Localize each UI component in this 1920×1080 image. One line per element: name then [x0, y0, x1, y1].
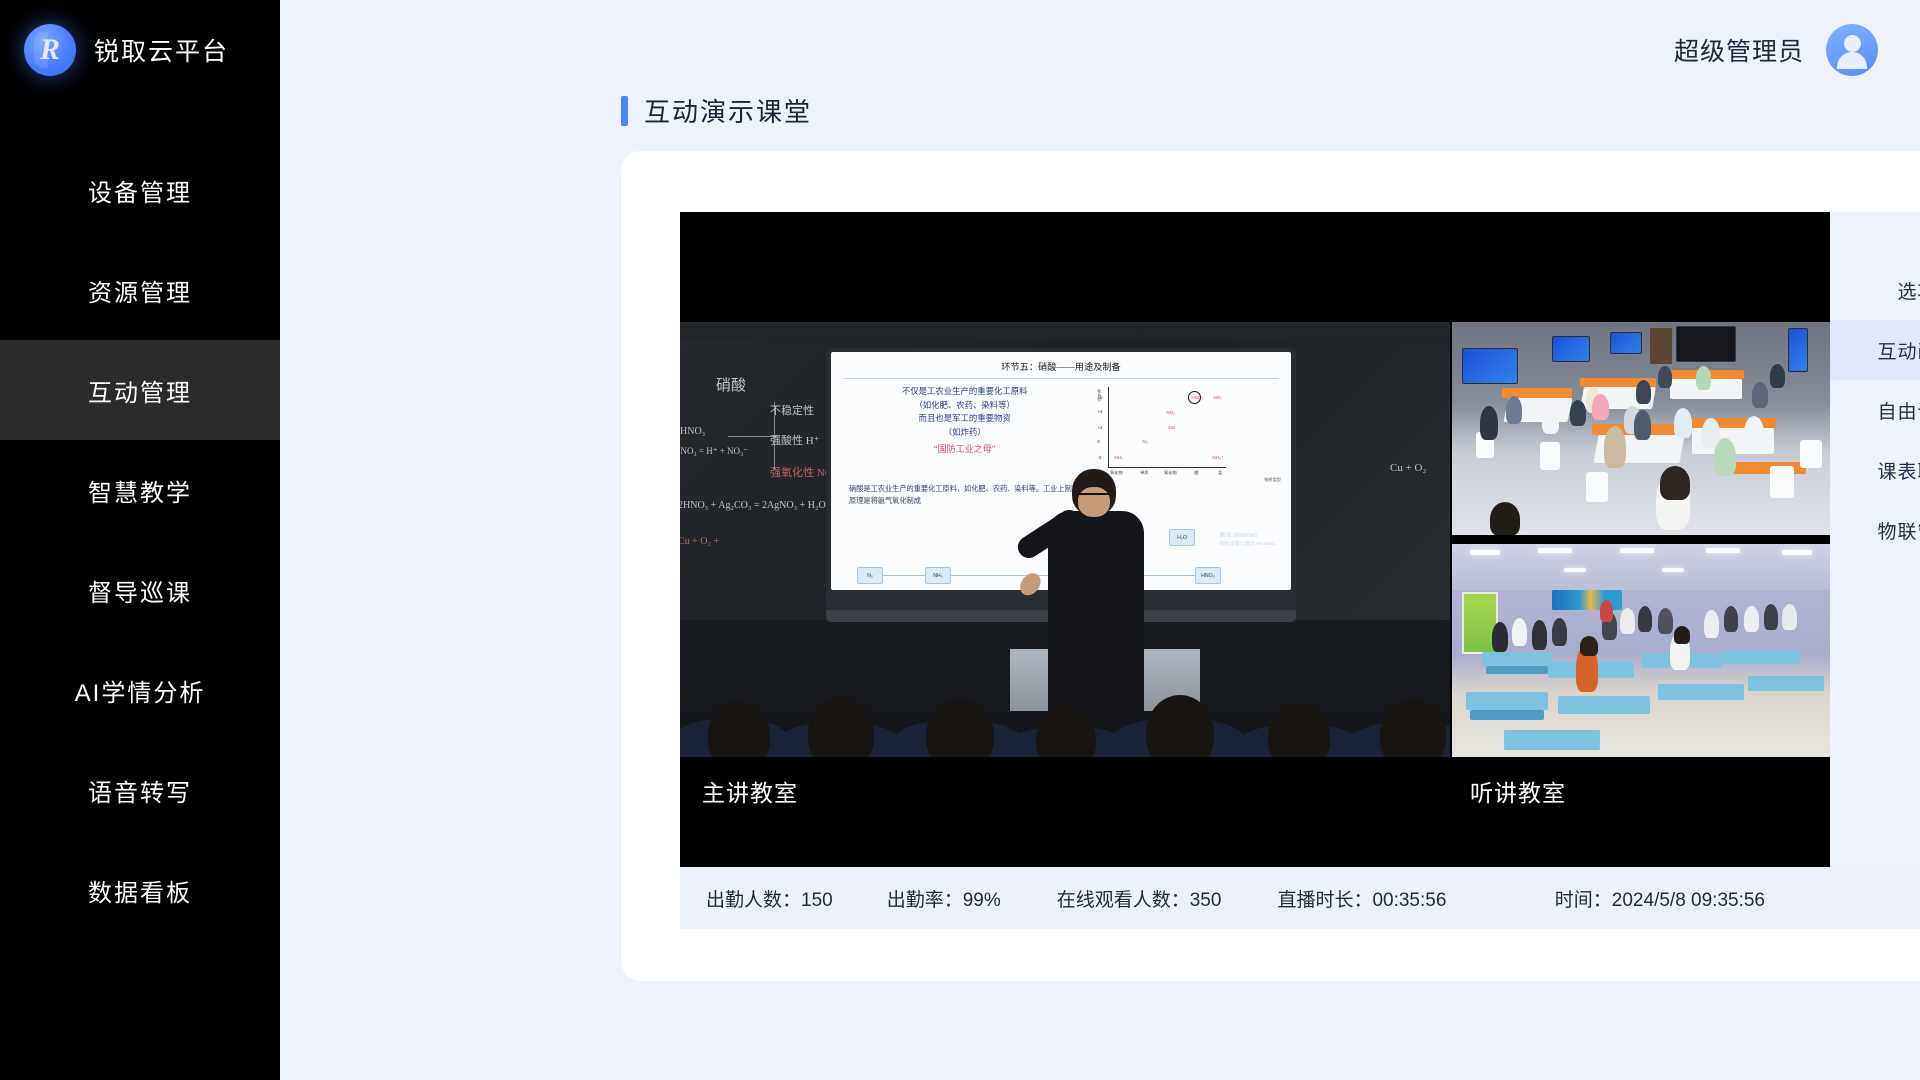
thumb1-person	[1752, 382, 1768, 408]
page-title-row: 互动演示课堂	[280, 92, 1920, 129]
thumb1-person	[1714, 438, 1736, 476]
thumb2-light	[1564, 568, 1586, 572]
tab-label: 互动画面	[1877, 337, 1920, 364]
student-head	[808, 697, 874, 757]
chalk-item-1: 不稳定性	[770, 402, 814, 418]
graph-y-tick-3: 0	[1097, 439, 1099, 444]
thumb2-desk	[1748, 676, 1824, 691]
thumb1-person	[1592, 394, 1609, 420]
flow-node-h2o: H₂O	[1169, 529, 1195, 546]
graph-x-tick-4: 盐	[1212, 470, 1228, 476]
flow-node-hno3: HNO₃	[1195, 567, 1221, 584]
tab-interactive-view[interactable]: 互动画面	[1830, 320, 1920, 380]
thumb2-desk	[1558, 696, 1650, 714]
sidebar-item-voice-transcription[interactable]: 语音转写	[0, 740, 280, 840]
sidebar-item-label: 语音转写	[88, 773, 192, 808]
tab-label: 选项	[1897, 277, 1920, 304]
thumb2-desk	[1504, 730, 1600, 750]
slide-graph: 化合价 +5 +4 +2 0 -3	[1094, 385, 1281, 477]
tab-schedule-linkage[interactable]: 课表联动	[1830, 440, 1920, 500]
student-head	[1036, 707, 1096, 757]
thumb1-display	[1462, 348, 1518, 384]
thumb2-person	[1532, 620, 1547, 650]
main-feed-label: 主讲教室	[702, 774, 798, 808]
graph-point-hno3: HNO₃	[1191, 395, 1203, 400]
thumb1-chair	[1770, 466, 1794, 498]
stat-attendance-rate: 出勤率：99%	[887, 885, 1001, 912]
topbar: 超级管理员	[280, 0, 1920, 100]
student-head	[1268, 703, 1330, 757]
side-tab-panel: 选项 互动画面 自由讨论 课表联动 物联管控	[1830, 212, 1920, 867]
sidebar-item-label: 数据看板	[88, 873, 192, 908]
thumb1-person	[1660, 466, 1690, 500]
thumb1-person	[1674, 408, 1692, 438]
tab-iot-control[interactable]: 物联管控	[1830, 500, 1920, 560]
slide-text-block: 不仅是工农业生产的重要化工原料 （如化肥、农药、染料等） 而且也是军工的重要物资…	[841, 385, 1088, 477]
thumb1-person	[1570, 400, 1586, 426]
sidebar-item-label: 互动管理	[88, 373, 192, 408]
stat-attendance-count: 出勤人数：150	[706, 885, 833, 912]
thumb1-person	[1506, 396, 1522, 424]
flow-node-nh3: NH₃	[925, 567, 951, 584]
thumb2-person	[1580, 636, 1598, 656]
thumb2-desk	[1482, 652, 1552, 666]
sidebar-item-interaction-management[interactable]: 互动管理	[0, 340, 280, 440]
brand-name: 锐取云平台	[94, 32, 229, 68]
graph-x-label: 物质类型	[1264, 477, 1281, 483]
thumb2-person	[1782, 604, 1797, 630]
thumb2-person	[1512, 618, 1527, 646]
thumb2-desk	[1486, 666, 1548, 674]
thumb1-person	[1604, 426, 1626, 468]
graph-y-tick-4: -3	[1097, 455, 1101, 460]
thumb1-person	[1634, 410, 1651, 440]
thumb2-person	[1620, 608, 1635, 634]
user-name: 超级管理员	[1674, 32, 1804, 68]
thumb1-person	[1744, 416, 1764, 450]
sub-feed-label: 听讲教室	[1470, 774, 1566, 808]
graph-point-nh4: NH₄⁺	[1212, 455, 1223, 461]
chalk-formula-4: Cu + O₂ +	[680, 536, 719, 547]
windows-watermark: 激活 Windows 转到“设置”以激活 Windows。	[1219, 532, 1279, 548]
app-root: R 锐取云平台 设备管理 资源管理 互动管理 智慧教学 督导巡课 AI学情分析 …	[0, 0, 1920, 1080]
content-card: 硝酸 不稳定性 强酸性 H⁺ 强氧化性 NO₃⁻(H⁺) HNO₃ HNO₃ =…	[621, 151, 1920, 981]
main-area: 超级管理员 互动演示课堂 硝酸 不稳定性	[280, 0, 1920, 1080]
stat-live-duration: 直播时长：00:35:56	[1277, 885, 1446, 912]
graph-y-tick-2: +2	[1097, 425, 1102, 430]
flow-node-n2: N₂	[857, 567, 883, 584]
sidebar: R 锐取云平台 设备管理 资源管理 互动管理 智慧教学 督导巡课 AI学情分析 …	[0, 0, 280, 1080]
thumb1-display	[1788, 328, 1808, 372]
student-head	[1146, 695, 1214, 757]
thumb2-person	[1744, 606, 1759, 632]
thumb1-person	[1636, 380, 1651, 404]
thumb1-display	[1610, 332, 1642, 354]
thumb1-person	[1542, 406, 1559, 434]
thumb2-person	[1600, 600, 1613, 622]
sidebar-item-data-dashboard[interactable]: 数据看板	[0, 840, 280, 940]
classroom-scene: 硝酸 不稳定性 强酸性 H⁺ 强氧化性 NO₃⁻(H⁺) HNO₃ HNO₃ =…	[680, 322, 1450, 757]
thumb1-chair	[1540, 442, 1560, 470]
sidebar-item-supervision[interactable]: 督导巡课	[0, 540, 280, 640]
slide-line-1: 不仅是工农业生产的重要化工原料	[841, 385, 1088, 399]
thumb2-person	[1638, 606, 1652, 632]
thumb2-person	[1764, 604, 1778, 630]
stat-timestamp: 时间：2024/5/8 09:35:56	[1555, 885, 1765, 912]
teacher-face	[1078, 487, 1110, 517]
student-head	[1380, 699, 1446, 757]
slide-line-4: （如炸药）	[841, 426, 1088, 440]
thumb1-chair	[1586, 472, 1608, 502]
thumb1-person	[1480, 406, 1498, 440]
student-head	[708, 701, 770, 757]
thumb1-person	[1770, 364, 1785, 388]
sidebar-item-smart-teaching[interactable]: 智慧教学	[0, 440, 280, 540]
thumb2-person	[1724, 606, 1738, 632]
tab-options[interactable]: 选项	[1830, 260, 1920, 320]
thumb2-light	[1620, 548, 1654, 553]
sidebar-item-label: 设备管理	[88, 173, 192, 208]
sidebar-item-label: 资源管理	[88, 273, 192, 308]
main-classroom-feed[interactable]: 硝酸 不稳定性 强酸性 H⁺ 强氧化性 NO₃⁻(H⁺) HNO₃ HNO₃ =…	[680, 322, 1450, 757]
sidebar-item-label: 督导巡课	[88, 573, 192, 608]
sidebar-item-label: 智慧教学	[88, 473, 192, 508]
thumb2-desk	[1466, 692, 1548, 710]
avatar-body-shape	[1837, 52, 1867, 69]
thumb1-person	[1490, 502, 1520, 535]
user-avatar-icon[interactable]	[1826, 24, 1878, 76]
tab-label: 物联管控	[1877, 517, 1920, 544]
thumb2-person	[1658, 608, 1673, 634]
video-stage[interactable]: 硝酸 不稳定性 强酸性 H⁺ 强氧化性 NO₃⁻(H⁺) HNO₃ HNO₃ =…	[680, 212, 1830, 867]
tab-free-discussion[interactable]: 自由讨论	[1830, 380, 1920, 440]
watermark-line-1: 激活 Windows	[1219, 532, 1279, 541]
graph-point-no: NO	[1168, 425, 1175, 430]
sidebar-nav: 设备管理 资源管理 互动管理 智慧教学 督导巡课 AI学情分析 语音转写 数据看…	[0, 140, 280, 940]
thumb1-chair	[1800, 440, 1822, 468]
teacher-glasses	[1078, 493, 1110, 500]
tab-label: 课表联动	[1877, 457, 1920, 484]
thumb1-display	[1552, 336, 1590, 362]
student-row	[680, 665, 1450, 757]
graph-point-nh3: NH₃	[1114, 455, 1123, 460]
slide-line-3: 而且也是军工的重要物资	[841, 412, 1088, 426]
sidebar-item-device-management[interactable]: 设备管理	[0, 140, 280, 240]
classroom-thumbnail-1[interactable]	[1452, 322, 1830, 535]
chalk-line	[728, 436, 778, 437]
sidebar-item-ai-analysis[interactable]: AI学情分析	[0, 640, 280, 740]
thumb2-light	[1470, 550, 1500, 555]
thumb2-light	[1706, 548, 1740, 553]
thumb2-desk	[1470, 710, 1544, 720]
graph-y-tick-0: +5	[1097, 395, 1102, 400]
thumb2-desk	[1658, 684, 1744, 700]
title-accent-bar	[621, 96, 628, 126]
brand: R 锐取云平台	[0, 0, 280, 100]
slide-line-2: （如化肥、农药、染料等）	[841, 399, 1088, 413]
graph-y-tick-1: +4	[1097, 409, 1102, 414]
chalk-formula-1: HNO₃	[680, 426, 705, 437]
thumb2-desk	[1722, 650, 1800, 664]
slide-title: 环节五：硝酸——用途及制备	[831, 359, 1291, 373]
graph-point-no2: NO₂	[1213, 395, 1222, 400]
page-title: 互动演示课堂	[644, 92, 812, 129]
graph-point-n2: N₂	[1142, 439, 1147, 444]
avatar-head-shape	[1844, 35, 1861, 52]
thumb2-person	[1552, 618, 1567, 646]
thumb1-person	[1696, 366, 1711, 390]
stat-online-viewers: 在线观看人数：350	[1057, 885, 1222, 912]
thumb2-person	[1674, 626, 1690, 644]
thumb1-door	[1650, 328, 1672, 364]
chalk-item-2: 强酸性 H⁺	[770, 432, 820, 448]
thumb2-light	[1538, 548, 1572, 553]
sidebar-item-resource-management[interactable]: 资源管理	[0, 240, 280, 340]
slide-quote: “国防工业之母”	[841, 442, 1088, 457]
thumb1-tv	[1676, 326, 1736, 362]
graph-point-no2b: NO₂	[1166, 410, 1175, 415]
classroom-thumbnail-2[interactable]	[1452, 544, 1830, 757]
graph-y-axis	[1108, 387, 1109, 467]
thumb1-person	[1658, 366, 1672, 388]
chalk-heading: 硝酸	[716, 374, 746, 395]
teacher-hand	[1016, 569, 1045, 599]
thumb2-person	[1492, 622, 1508, 652]
graph-x-tick-3: 酸	[1188, 470, 1204, 476]
brand-logo-icon: R	[24, 24, 76, 76]
slide-body: 不仅是工农业生产的重要化工原料 （如化肥、农药、染料等） 而且也是军工的重要物资…	[831, 379, 1291, 477]
stats-bar: 出勤人数：150 出勤率：99% 在线观看人数：350 直播时长：00:35:5…	[680, 867, 1920, 929]
thumb2-light	[1782, 550, 1812, 555]
player-wrap: 硝酸 不稳定性 强酸性 H⁺ 强氧化性 NO₃⁻(H⁺) HNO₃ HNO₃ =…	[680, 212, 1920, 867]
secondary-feeds	[1452, 322, 1830, 757]
thumb2-light	[1662, 568, 1684, 572]
chalk-formula-5: Cu + O₂	[1390, 462, 1426, 474]
thumb2-person	[1704, 610, 1719, 638]
sidebar-item-label: AI学情分析	[75, 673, 206, 708]
tab-label: 自由讨论	[1877, 397, 1920, 424]
watermark-line-2: 转到“设置”以激活 Windows。	[1219, 541, 1279, 548]
flow-line-1	[883, 575, 925, 576]
chalk-formula-2: HNO₃ = H⁺ + NO₃⁻	[680, 446, 748, 457]
student-head	[926, 699, 994, 757]
